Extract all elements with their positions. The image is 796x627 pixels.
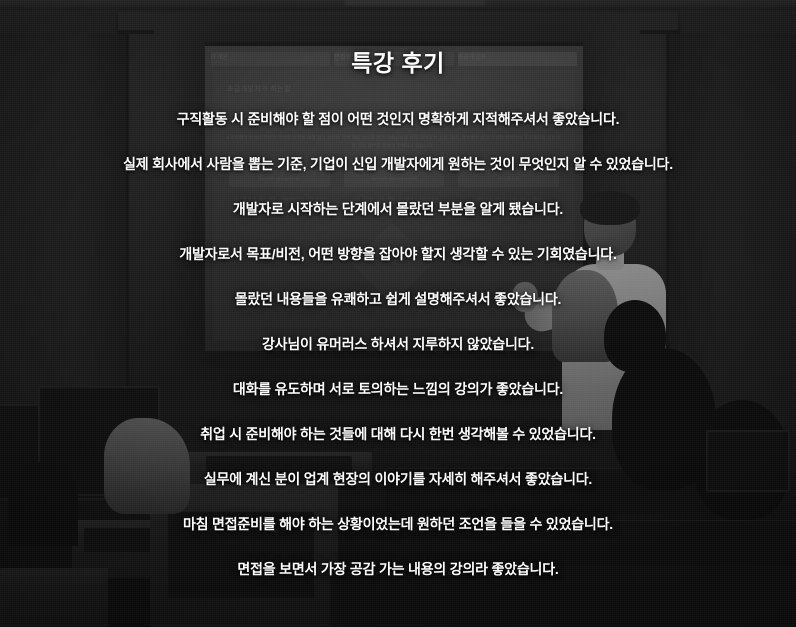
review-item: 강사님이 유머러스 하셔서 지루하지 않았습니다. <box>0 333 796 378</box>
review-item: 대화를 유도하며 서로 토의하는 느낌의 강의가 좋았습니다. <box>0 378 796 423</box>
review-item: 개발자로서 목표/비전, 어떤 방향을 잡아야 할지 생각할 수 있는 기회였습… <box>0 243 796 288</box>
review-item: 구직활동 시 준비해야 할 점이 어떤 것인지 명확하게 지적해주셔서 좋았습니… <box>0 108 796 153</box>
review-list: 구직활동 시 준비해야 할 점이 어떤 것인지 명확하게 지적해주셔서 좋았습니… <box>0 108 796 603</box>
review-item: 개발자로 시작하는 단계에서 몰랐던 부분을 알게 됐습니다. <box>0 198 796 243</box>
review-item: 실제 회사에서 사람을 뽑는 기준, 기업이 신입 개발자에게 원하는 것이 무… <box>0 153 796 198</box>
review-page: IT개론 면접방법 초급개발자 초급개발자가 하는일 소프트웨어 분야의 다양한… <box>0 0 796 627</box>
review-item: 면접을 보면서 가장 공감 가는 내용의 강의라 좋았습니다. <box>0 558 796 603</box>
overlay-content: 특강 후기 구직활동 시 준비해야 할 점이 어떤 것인지 명확하게 지적해주셔… <box>0 0 796 627</box>
review-item: 몰랐던 내용들을 유쾌하고 쉽게 설명해주셔서 좋았습니다. <box>0 288 796 333</box>
review-item: 마침 면접준비를 해야 하는 상황이었는데 원하던 조언을 들을 수 있었습니다… <box>0 513 796 558</box>
review-item: 취업 시 준비해야 하는 것들에 대해 다시 한번 생각해볼 수 있었습니다. <box>0 423 796 468</box>
review-item: 실무에 계신 분이 업계 현장의 이야기를 자세히 해주셔서 좋았습니다. <box>0 468 796 513</box>
page-title: 특강 후기 <box>0 44 796 78</box>
